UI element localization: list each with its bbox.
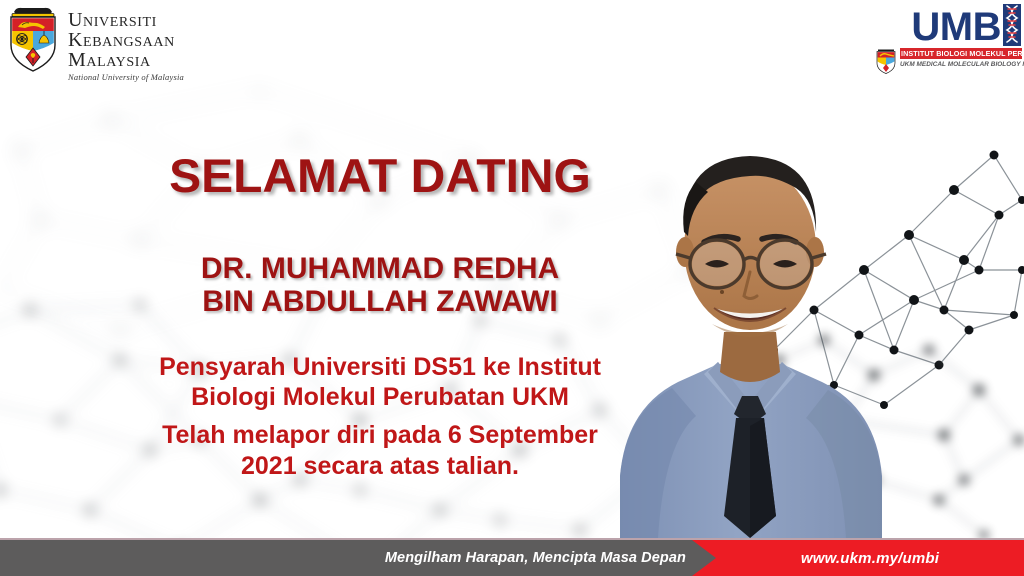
report-line-1: Telah melapor diri pada 6 September [0, 420, 760, 451]
ukm-crest-small-icon [875, 48, 897, 74]
report-line-2: 2021 secara atas talian. [0, 451, 760, 482]
footer-bar: Mengilham Harapan, Mencipta Masa Depan w… [0, 538, 1024, 576]
ukm-line-2: Kebangsaan [68, 30, 184, 50]
slide-canvas: Universiti Kebangsaan Malaysia National … [0, 0, 1024, 576]
umbi-caption-row: INSTITUT BIOLOGI MOLEKUL PERUBATAN UKM U… [872, 48, 1022, 74]
page-title: SELAMAT DATING [0, 150, 768, 202]
position-line-1: Pensyarah Universiti DS51 ke Institut [0, 352, 760, 382]
position-line-2: Biologi Molekul Perubatan UKM [0, 382, 760, 412]
dna-helix-icon [1002, 4, 1022, 46]
ukm-logo: Universiti Kebangsaan Malaysia National … [6, 5, 184, 82]
position-text: Pensyarah Universiti DS51 ke Institut Bi… [0, 352, 760, 412]
ukm-wordmark: Universiti Kebangsaan Malaysia National … [68, 5, 184, 82]
footer-slogan: Mengilham Harapan, Mencipta Masa Depan [0, 540, 686, 576]
report-text: Telah melapor diri pada 6 September 2021… [0, 420, 760, 482]
person-name-line-1: DR. MUHAMMAD REDHA [0, 252, 760, 285]
umbi-wordmark-row: UMB [872, 4, 1022, 46]
ukm-line-3: Malaysia [68, 50, 184, 70]
umbi-caption-lines: INSTITUT BIOLOGI MOLEKUL PERUBATAN UKM U… [900, 48, 1022, 68]
umbi-wordmark: UMB [911, 8, 1001, 46]
person-name: DR. MUHAMMAD REDHA BIN ABDULLAH ZAWAWI [0, 252, 760, 318]
footer-url[interactable]: www.ukm.my/umbi [716, 540, 1024, 576]
umbi-banner-english: UKM MEDICAL MOLECULAR BIOLOGY INSTITUTE [900, 61, 1022, 68]
ukm-line-1: Universiti [68, 10, 184, 30]
umbi-banner-malay: INSTITUT BIOLOGI MOLEKUL PERUBATAN UKM [900, 48, 1022, 59]
person-name-line-2: BIN ABDULLAH ZAWAWI [0, 285, 760, 318]
ukm-crest-icon [6, 5, 60, 73]
ukm-tagline: National University of Malaysia [68, 73, 184, 82]
umbi-logo: UMB [872, 4, 1022, 74]
